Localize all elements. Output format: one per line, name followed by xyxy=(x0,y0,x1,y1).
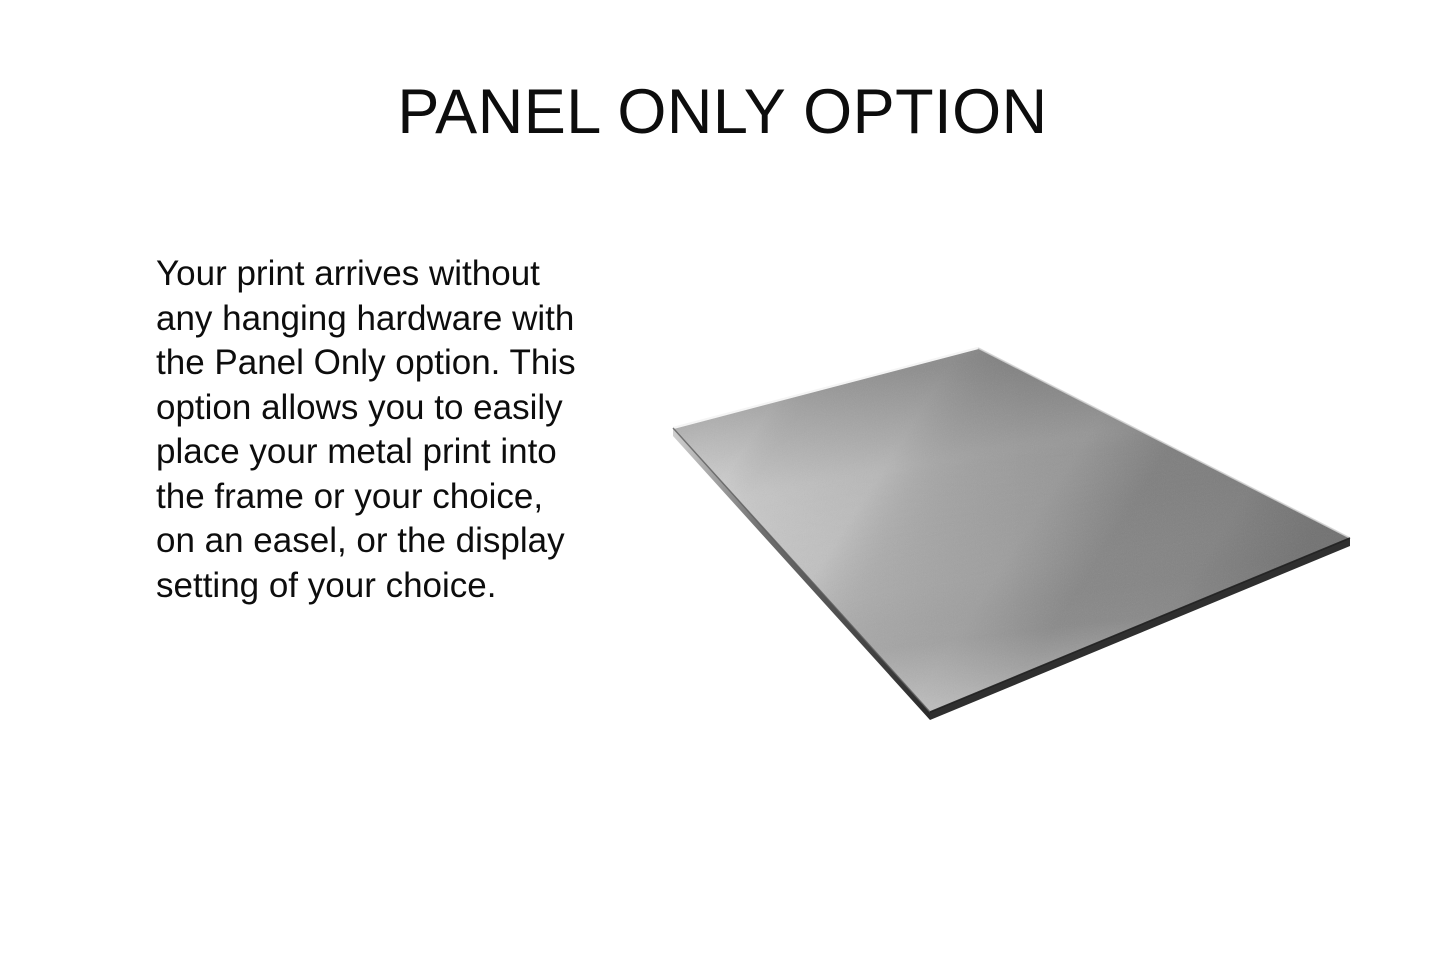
slide-canvas: PANEL ONLY OPTION Your print arrives wit… xyxy=(0,0,1445,963)
body-paragraph: Your print arrives without any hanging h… xyxy=(156,252,576,608)
metal-panel-graphic xyxy=(630,320,1390,740)
metal-panel-illustration xyxy=(630,320,1390,740)
page-title: PANEL ONLY OPTION xyxy=(0,78,1445,146)
panel-face xyxy=(673,348,1350,712)
